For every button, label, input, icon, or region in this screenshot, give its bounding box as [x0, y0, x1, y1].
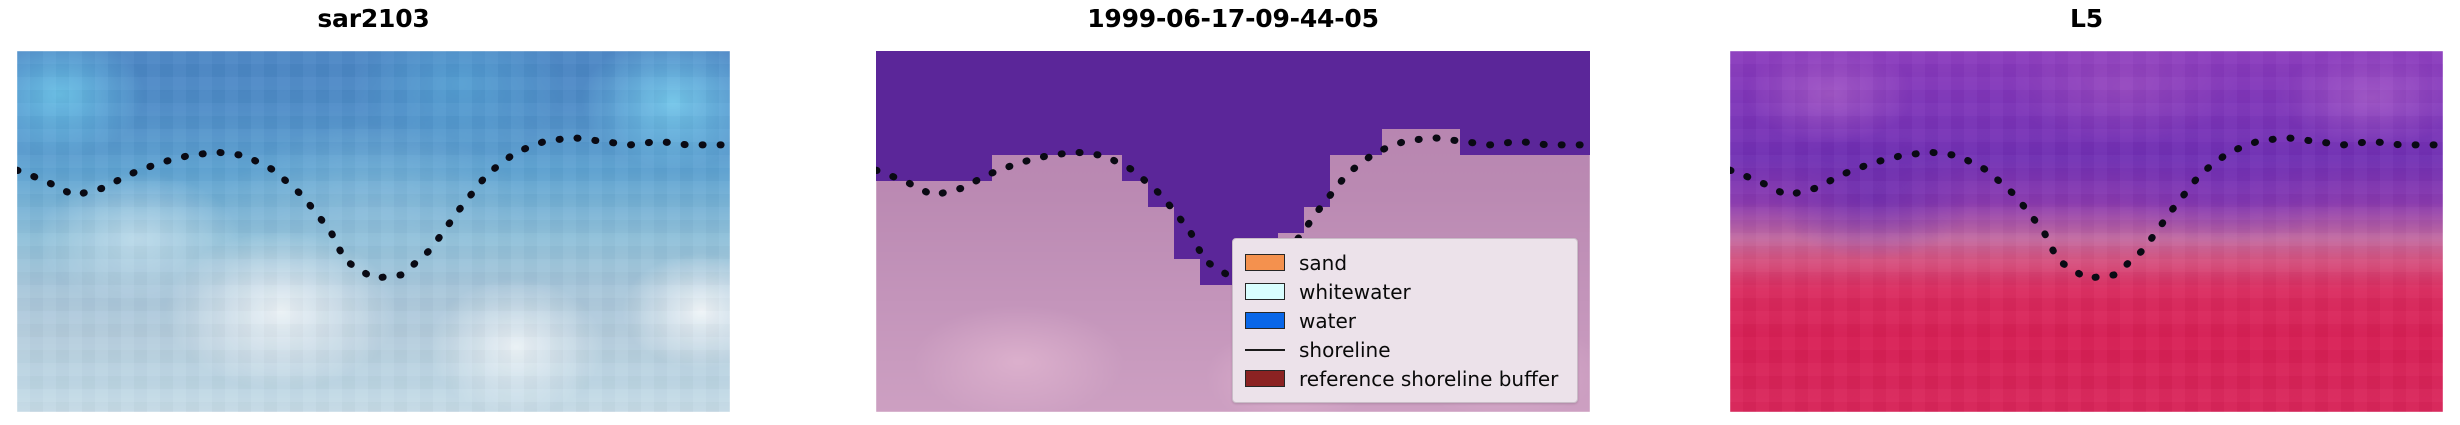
figure-canvas: sar2103 1999-06-17-09-44-05 L5 sand	[0, 0, 2460, 425]
pixel-texture-3	[1730, 51, 2443, 412]
legend-swatch-sand	[1245, 254, 1285, 271]
legend-item-water[interactable]: water	[1245, 306, 1567, 335]
legend-label-whitewater: whitewater	[1299, 280, 1411, 304]
legend-swatch-whitewater	[1245, 283, 1285, 300]
panel-title-2: 1999-06-17-09-44-05	[876, 4, 1590, 34]
legend-item-shoreline[interactable]: shoreline	[1245, 335, 1567, 364]
legend-swatch-shoreline	[1245, 349, 1285, 351]
panel-title-3: L5	[1730, 4, 2443, 34]
legend-box: sand whitewater water shoreline referenc…	[1232, 238, 1578, 403]
panel-l5[interactable]	[1730, 51, 2443, 412]
legend-item-sand[interactable]: sand	[1245, 248, 1567, 277]
panel-title-1: sar2103	[17, 4, 730, 34]
legend-label-shoreline: shoreline	[1299, 338, 1391, 362]
panel-sar2103[interactable]	[17, 51, 730, 412]
pixel-texture-1	[17, 51, 730, 412]
legend-item-whitewater[interactable]: whitewater	[1245, 277, 1567, 306]
legend-label-sand: sand	[1299, 251, 1347, 275]
legend-item-reference-buffer[interactable]: reference shoreline buffer	[1245, 364, 1567, 393]
legend-label-reference-buffer: reference shoreline buffer	[1299, 367, 1558, 391]
legend-swatch-reference-buffer	[1245, 370, 1285, 387]
legend-swatch-water	[1245, 312, 1285, 329]
legend-label-water: water	[1299, 309, 1356, 333]
